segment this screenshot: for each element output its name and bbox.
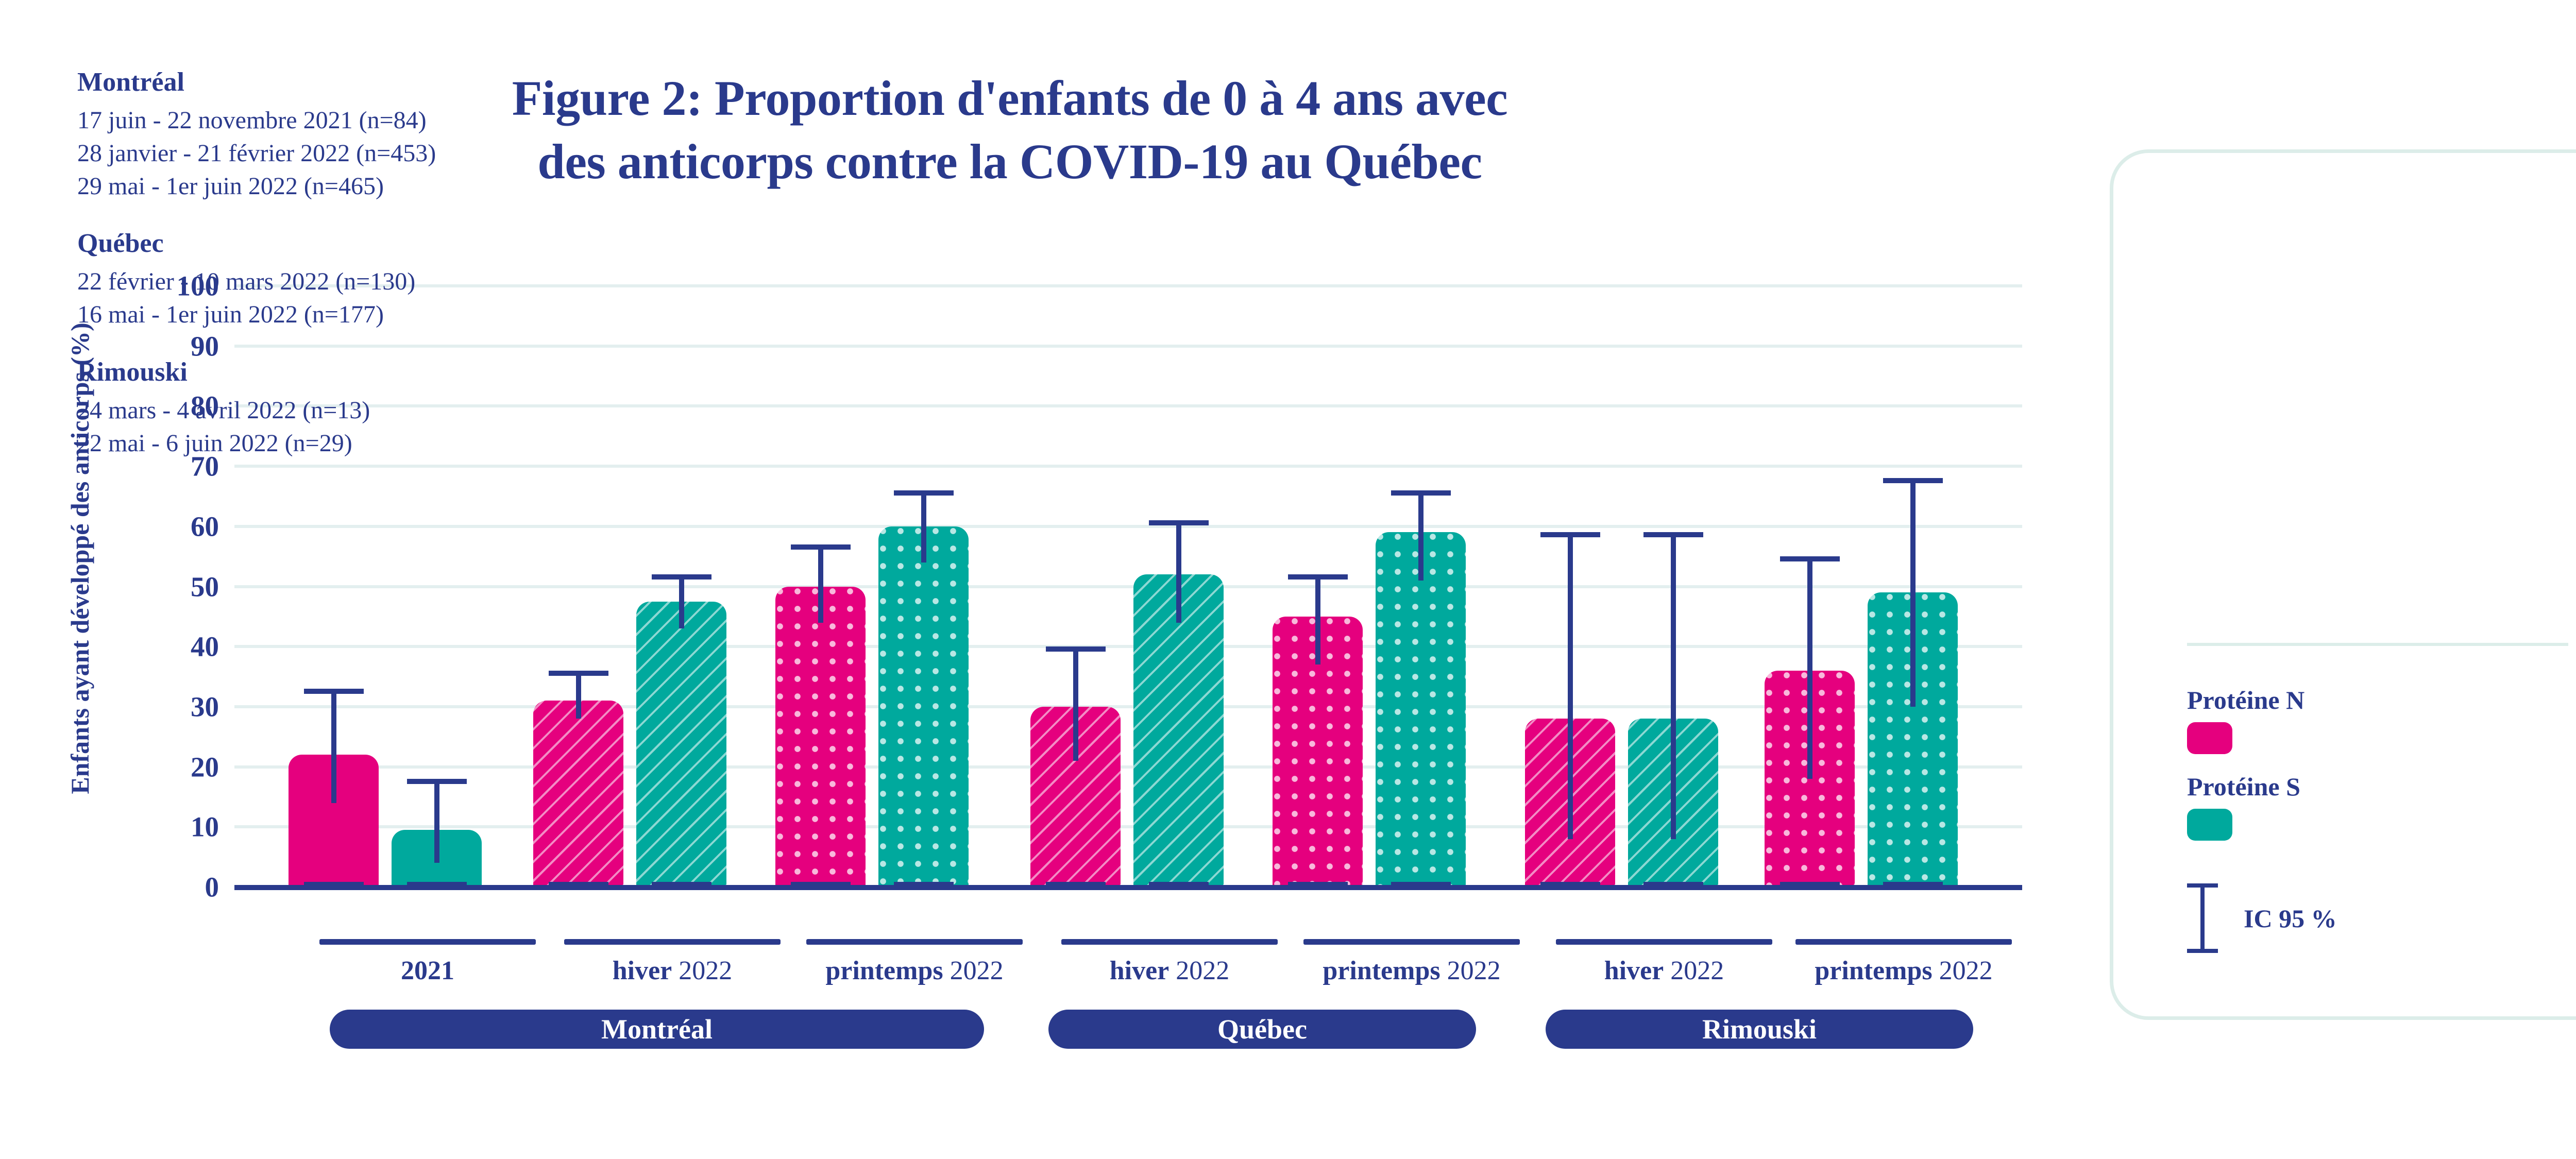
legend-label-protein-n: Protéine N	[2187, 685, 2304, 715]
sampling-period-line: 24 mars - 4 avril 2022 (n=13)	[77, 394, 520, 427]
gridline	[234, 705, 2022, 708]
y-axis-tick-label: 10	[116, 811, 219, 843]
gridline	[234, 825, 2022, 828]
period-rule	[1795, 939, 2012, 945]
error-bar	[1628, 532, 1718, 887]
city-name: Rimouski	[77, 357, 520, 387]
legend-item-protein-n: Protéine N	[2187, 685, 2304, 754]
error-bar	[1868, 478, 1958, 887]
city-name: Montréal	[77, 67, 520, 97]
sampling-periods-list: Montréal17 juin - 22 novembre 2021 (n=84…	[77, 67, 520, 486]
legend-item-ci: IC 95 %	[2187, 883, 2337, 953]
sampling-period-line: 16 mai - 1er juin 2022 (n=177)	[77, 298, 520, 331]
legend-label-ci: IC 95 %	[2244, 904, 2337, 933]
period-rule	[1556, 939, 1772, 945]
error-bar-icon	[2187, 883, 2218, 953]
y-axis-tick-label: 0	[116, 871, 219, 904]
city-name: Québec	[77, 228, 520, 259]
error-bar	[1525, 532, 1615, 887]
y-axis-tick-label: 40	[116, 630, 219, 663]
y-axis-tick-label: 30	[116, 690, 219, 723]
city-block: Québec22 février - 10 mars 2022 (n=130)1…	[77, 228, 520, 331]
error-bar	[533, 671, 623, 887]
legend-item-protein-s: Protéine S	[2187, 772, 2300, 841]
x-axis-baseline	[234, 885, 2022, 890]
y-axis-tick-label: 50	[116, 570, 219, 603]
error-bar	[1273, 574, 1363, 887]
city-block: Rimouski24 mars - 4 avril 2022 (n=13)22 …	[77, 357, 520, 460]
period-rule	[1303, 939, 1520, 945]
sampling-period-line: 28 janvier - 21 février 2022 (n=453)	[77, 137, 520, 170]
panel-divider	[2187, 643, 2568, 646]
city-block: Montréal17 juin - 22 novembre 2021 (n=84…	[77, 67, 520, 202]
gridline	[234, 525, 2022, 528]
sampling-period-line: 22 mai - 6 juin 2022 (n=29)	[77, 427, 520, 460]
info-panel	[2110, 149, 2576, 1020]
period-rule	[564, 939, 781, 945]
error-bar	[1765, 556, 1855, 887]
gridline	[234, 645, 2022, 648]
y-axis-tick-label: 20	[116, 751, 219, 783]
error-bar	[1376, 490, 1466, 887]
error-bar	[392, 779, 482, 887]
legend-label-protein-s: Protéine S	[2187, 772, 2300, 802]
group-pill-montréal: Montréal	[330, 1010, 984, 1049]
error-bar	[1133, 520, 1224, 887]
error-bar	[878, 490, 969, 887]
period-rule	[1061, 939, 1278, 945]
sampling-period-line: 17 juin - 22 novembre 2021 (n=84)	[77, 104, 520, 137]
error-bar	[1030, 646, 1121, 887]
y-axis-tick-label: 60	[116, 510, 219, 542]
error-bar	[636, 574, 726, 887]
period-rule	[806, 939, 1023, 945]
period-rule	[319, 939, 536, 945]
sampling-period-line: 22 février - 10 mars 2022 (n=130)	[77, 265, 520, 298]
sampling-period-line: 29 mai - 1er juin 2022 (n=465)	[77, 170, 520, 203]
group-pill-québec: Québec	[1048, 1010, 1476, 1049]
error-bar	[289, 689, 379, 887]
period-label: printemps 2022	[1728, 956, 2079, 986]
gridline	[234, 765, 2022, 769]
legend-swatch-protein-n	[2187, 722, 2232, 754]
gridline	[234, 585, 2022, 588]
legend-swatch-protein-s	[2187, 809, 2232, 841]
error-bar	[775, 544, 866, 887]
group-pill-rimouski: Rimouski	[1546, 1010, 1973, 1049]
